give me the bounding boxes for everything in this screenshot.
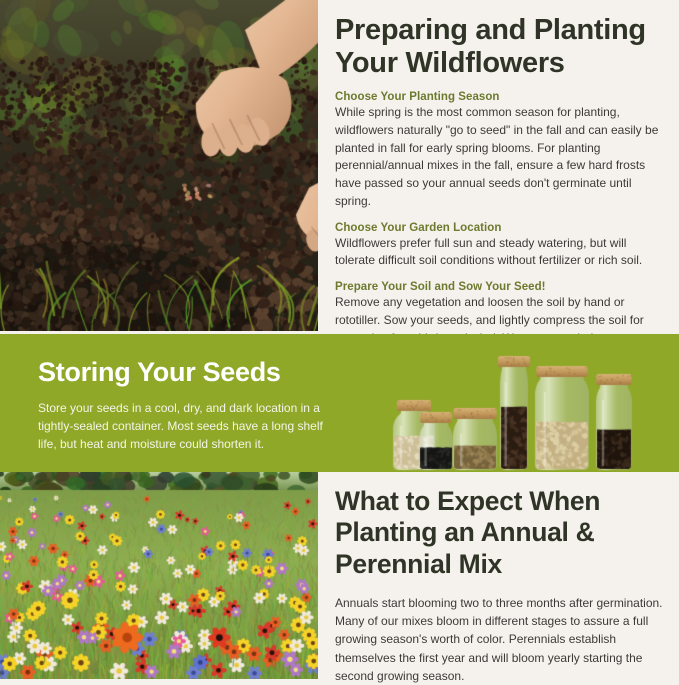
body-garden-location: Wildflowers prefer full sun and steady w… bbox=[335, 235, 665, 271]
subheading-prepare-soil: Prepare Your Soil and Sow Your Seed! bbox=[335, 281, 665, 293]
expect-heading: What to Expect When Planting an Annual &… bbox=[335, 486, 665, 580]
subheading-planting-season: Choose Your Planting Season bbox=[335, 91, 665, 103]
wildflower-meadow-image bbox=[0, 472, 318, 679]
body-planting-season: While spring is the most common season f… bbox=[335, 104, 665, 211]
expect-body: Annuals start blooming two to three mont… bbox=[335, 594, 665, 685]
preparing-planting-section: Preparing and Planting Your Wildflowers … bbox=[318, 0, 679, 334]
what-to-expect-section: What to Expect When Planting an Annual &… bbox=[318, 472, 679, 679]
seed-jars-image bbox=[383, 346, 668, 472]
infographic-page: Preparing and Planting Your Wildflowers … bbox=[0, 0, 679, 679]
storing-body: Store your seeds in a cool, dry, and dar… bbox=[38, 399, 338, 453]
storing-heading: Storing Your Seeds bbox=[38, 358, 338, 388]
preparing-heading: Preparing and Planting Your Wildflowers bbox=[335, 14, 665, 80]
hands-sowing-seeds-image bbox=[0, 0, 318, 331]
storing-text-block: Storing Your Seeds Store your seeds in a… bbox=[38, 358, 338, 453]
subheading-garden-location: Choose Your Garden Location bbox=[335, 222, 665, 234]
